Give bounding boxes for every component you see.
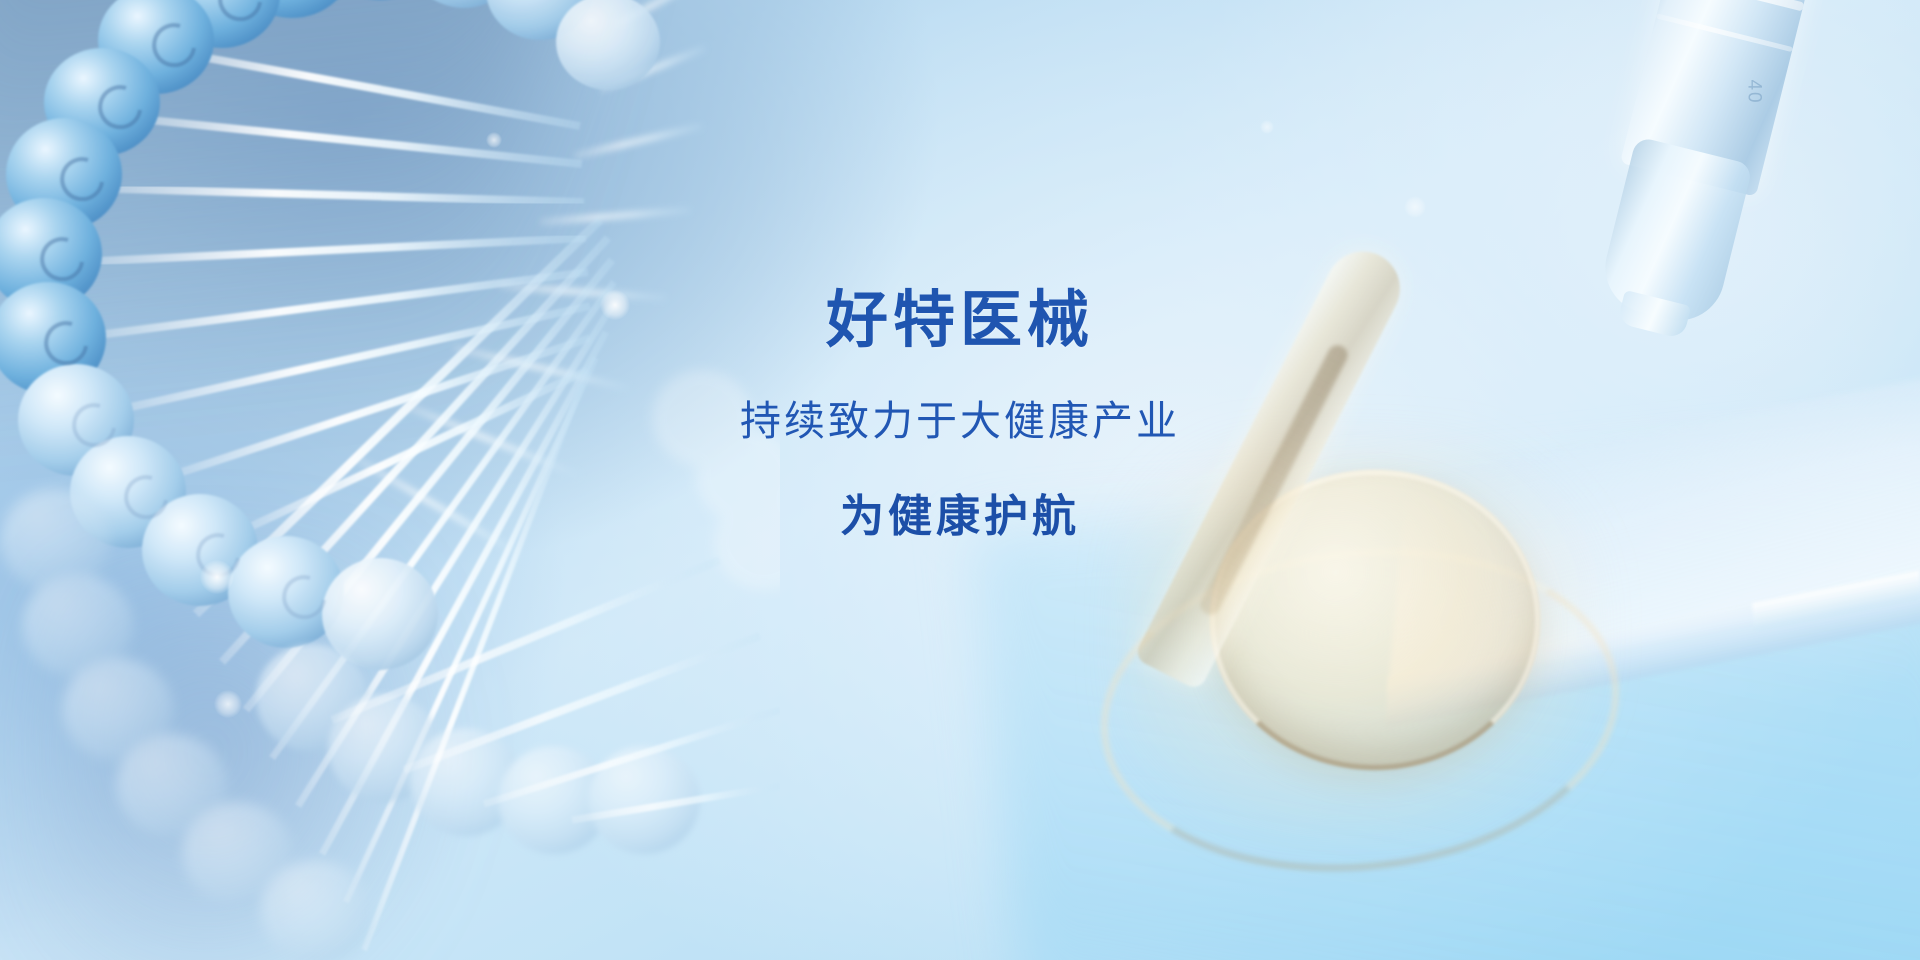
bokeh-dot bbox=[1260, 120, 1274, 134]
hero-text-block: 好特医械 持续致力于大健康产业 为健康护航 bbox=[0, 286, 1920, 543]
hero-tagline: 为健康护航 bbox=[0, 491, 1920, 544]
hero-banner: 40 好特医械 持续致力于大健康产业 为健康护航 bbox=[0, 0, 1920, 960]
bokeh-dot bbox=[1404, 196, 1426, 218]
bokeh-dot bbox=[486, 132, 502, 148]
bokeh-dot bbox=[200, 560, 234, 594]
bokeh-dot bbox=[214, 690, 242, 718]
company-title: 好特医械 bbox=[0, 286, 1920, 355]
microscope-magnification-label: 40 bbox=[1742, 79, 1764, 104]
hero-subtitle: 持续致力于大健康产业 bbox=[0, 397, 1920, 446]
